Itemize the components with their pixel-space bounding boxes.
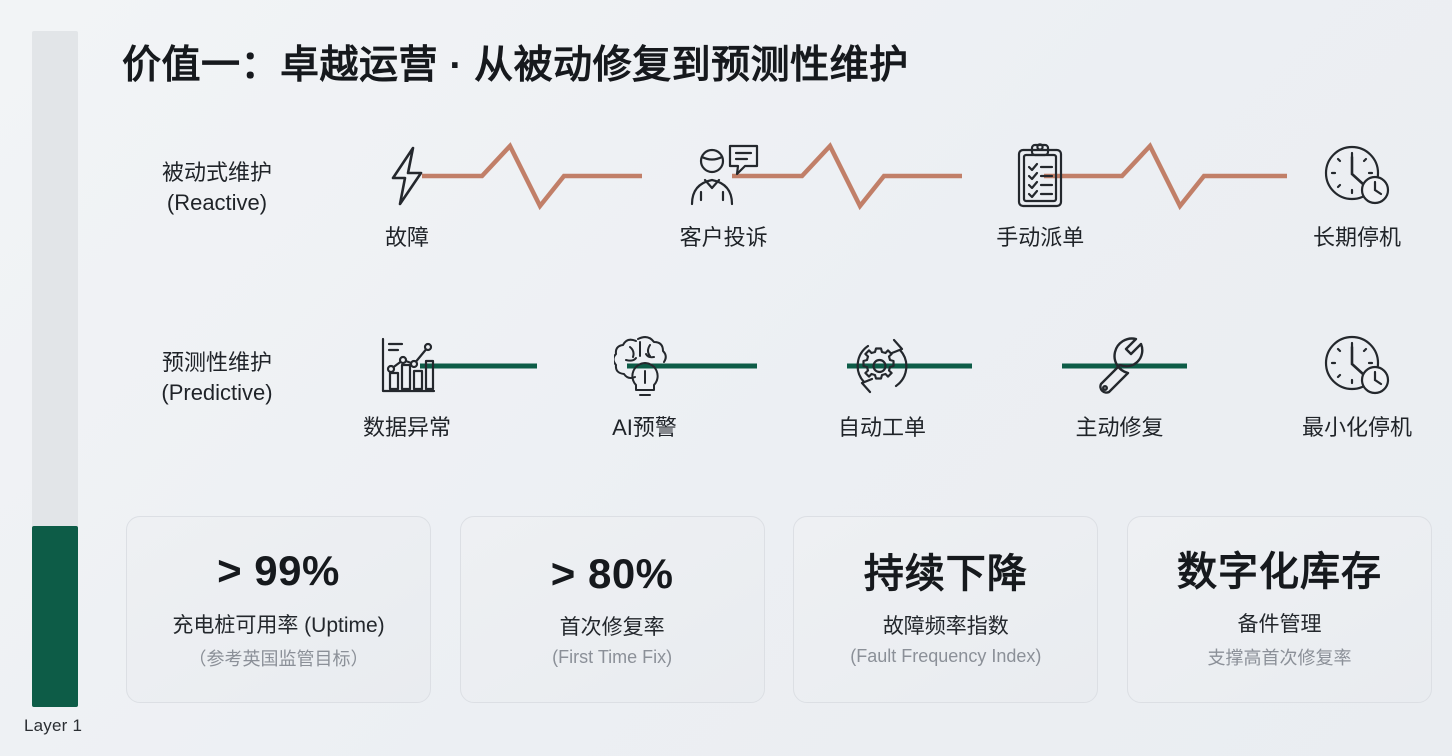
flow-node-caption: 最小化停机 — [1302, 410, 1412, 442]
kpi-value: > 99% — [217, 548, 340, 594]
flow-node-data-anomaly[interactable]: 数据异常 — [332, 330, 482, 442]
flow-node-fault[interactable]: 故障 — [332, 140, 482, 252]
kpi-sublabel: （参考英国监管目标） — [189, 645, 369, 671]
kpi-sublabel: (Fault Frequency Index) — [850, 646, 1041, 667]
kpi-value: > 80% — [551, 551, 674, 597]
row-label-en: (Reactive) — [122, 188, 312, 218]
flow-node-caption: 主动修复 — [1075, 410, 1163, 442]
person-complaint-icon — [687, 140, 761, 212]
flow-row-predictive: 预测性维护 (Predictive) — [122, 330, 1432, 460]
row-label-predictive: 预测性维护 (Predictive) — [122, 348, 312, 407]
flow-node-caption: AI预警 — [612, 410, 677, 442]
flow-node-caption: 自动工单 — [838, 410, 926, 442]
flow-node-caption: 故障 — [385, 220, 429, 252]
flow-node-customer-complaint[interactable]: 客户投诉 — [649, 140, 799, 252]
flow-node-caption: 数据异常 — [363, 410, 451, 442]
kpi-label: 故障频率指数 — [883, 610, 1009, 640]
kpi-sublabel: (First Time Fix) — [552, 647, 672, 668]
kpi-label: 备件管理 — [1237, 608, 1321, 638]
wrench-icon — [1091, 330, 1149, 402]
row-label-cn: 被动式维护 — [162, 160, 272, 185]
kpi-card-digital-inventory[interactable]: 数字化库存 备件管理 支撑高首次修复率 — [1127, 516, 1432, 703]
flow-node-caption: 长期停机 — [1313, 220, 1401, 252]
slide-canvas: Layer 1 价值一：卓越运营 · 从被动修复到预测性维护 被动式维护 (Re… — [0, 0, 1452, 756]
rail-fill — [32, 526, 78, 707]
clock-min-downtime-icon — [1322, 330, 1392, 402]
flow-node-long-downtime[interactable]: 长期停机 — [1282, 140, 1432, 252]
flow-node-min-downtime[interactable]: 最小化停机 — [1282, 330, 1432, 442]
lightning-bolt-icon — [384, 140, 430, 212]
row-label-cn: 预测性维护 — [162, 350, 272, 375]
flow-node-auto-workorder[interactable]: 自动工单 — [807, 330, 957, 442]
flow-node-proactive-repair[interactable]: 主动修复 — [1045, 330, 1195, 442]
kpi-card-uptime[interactable]: > 99% 充电桩可用率 (Uptime) （参考英国监管目标） — [126, 516, 431, 703]
flow-node-ai-alert[interactable]: AI预警 — [570, 330, 720, 442]
row-label-en: (Predictive) — [122, 378, 312, 408]
clipboard-checklist-icon — [1013, 140, 1067, 212]
clock-long-downtime-icon — [1322, 140, 1392, 212]
flow-row-reactive: 被动式维护 (Reactive) 故障 — [122, 140, 1432, 270]
page-title: 价值一：卓越运营 · 从被动修复到预测性维护 — [122, 34, 909, 90]
kpi-card-fault-frequency[interactable]: 持续下降 故障频率指数 (Fault Frequency Index) — [793, 516, 1098, 703]
kpi-sublabel: 支撑高首次修复率 — [1207, 644, 1351, 670]
kpi-value: 数字化库存 — [1177, 550, 1382, 594]
row-label-reactive: 被动式维护 (Reactive) — [122, 158, 312, 217]
flow-track-predictive: 数据异常 AI预警 — [332, 330, 1432, 460]
layer-progress-rail[interactable] — [32, 31, 78, 707]
flow-node-caption: 手动派单 — [996, 220, 1084, 252]
flow-node-caption: 客户投诉 — [680, 220, 768, 252]
flow-node-manual-dispatch[interactable]: 手动派单 — [965, 140, 1115, 252]
flow-track-reactive: 故障 客户投诉 — [332, 140, 1432, 270]
kpi-card-list: > 99% 充电桩可用率 (Uptime) （参考英国监管目标） > 80% 首… — [126, 516, 1432, 703]
gear-refresh-icon — [850, 330, 914, 402]
layer-label: Layer 1 — [24, 716, 82, 736]
brain-bulb-ai-icon — [614, 330, 676, 402]
kpi-label: 首次修复率 — [560, 611, 665, 641]
bar-chart-anomaly-icon — [376, 330, 438, 402]
kpi-value: 持续下降 — [864, 552, 1028, 596]
connector-zigzag-reactive — [332, 140, 1432, 212]
kpi-label: 充电桩可用率 (Uptime) — [172, 609, 384, 639]
kpi-card-first-time-fix[interactable]: > 80% 首次修复率 (First Time Fix) — [460, 516, 765, 703]
